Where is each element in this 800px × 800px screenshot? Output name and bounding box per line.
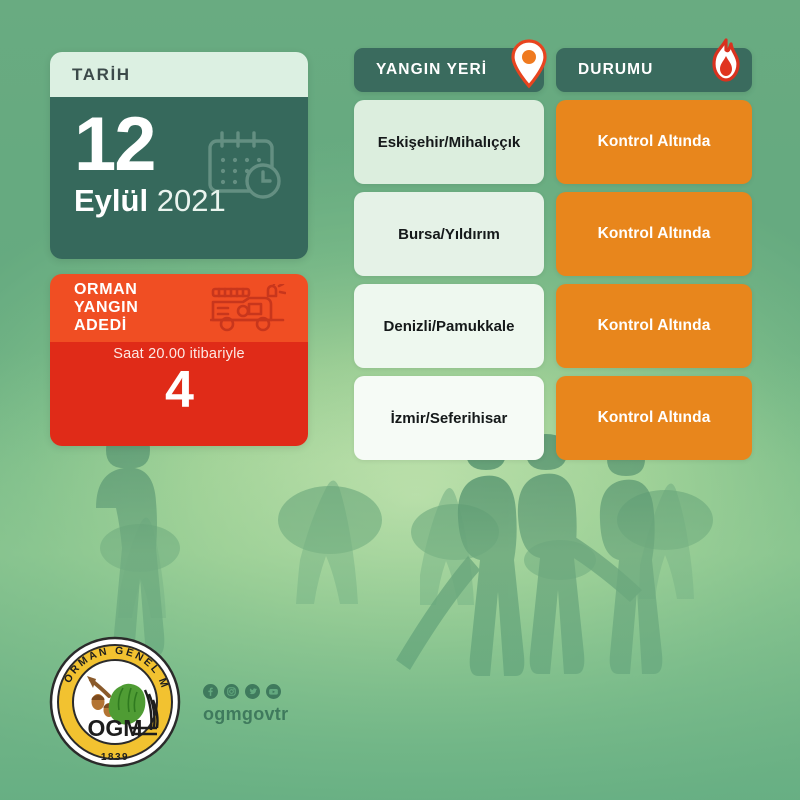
date-card-body: 12 Eylül 2021 — [50, 97, 308, 259]
ogm-logo: ORMAN GENEL MÜDÜRLÜĞÜ OGM 1839 — [45, 632, 185, 772]
table-row: İzmir/Seferihisar — [354, 376, 544, 460]
table-header-place: YANGIN YERİ — [354, 48, 544, 92]
status-value: Kontrol Altında — [598, 133, 711, 151]
status-value: Kontrol Altında — [598, 225, 711, 243]
table-row: Kontrol Altında — [556, 100, 752, 184]
table-header-status: DURUMU — [556, 48, 752, 92]
table-column-place: YANGIN YERİ Eskişehir/Mihalıççık Bursa/Y… — [354, 48, 544, 460]
fire-count-title-line1: ORMAN — [74, 281, 138, 299]
fire-count-subtitle: Saat 20.00 itibariyle — [113, 346, 245, 362]
date-card-label: TARİH — [72, 65, 131, 85]
status-value: Kontrol Altında — [598, 409, 711, 427]
logo-year: 1839 — [101, 752, 129, 763]
place-value: İzmir/Seferihisar — [391, 410, 508, 427]
fire-count-title-line3: ADEDİ — [74, 317, 138, 335]
fire-count-card: ORMAN YANGIN ADEDİ Saat 20.00 itibariyle… — [50, 274, 308, 446]
table-row: Denizli/Pamukkale — [354, 284, 544, 368]
place-value: Denizli/Pamukkale — [384, 318, 515, 335]
table-row: Bursa/Yıldırım — [354, 192, 544, 276]
instagram-icon[interactable] — [224, 684, 239, 699]
table-column-status: DURUMU Kontrol Altında Kontrol Altında K… — [556, 48, 752, 460]
date-card-header: TARİH — [50, 52, 308, 97]
footer: ORMAN GENEL MÜDÜRLÜĞÜ OGM 1839 — [45, 632, 288, 772]
social-handle: ogmgovtr — [203, 704, 288, 725]
table-row: Eskişehir/Mihalıççık — [354, 100, 544, 184]
table-row: Kontrol Altında — [556, 376, 752, 460]
table-row: Kontrol Altında — [556, 284, 752, 368]
fire-count-header: ORMAN YANGIN ADEDİ — [50, 274, 308, 342]
table-header-place-label: YANGIN YERİ — [354, 61, 487, 79]
fire-count-title-line2: YANGIN — [74, 299, 138, 317]
table-row: Kontrol Altında — [556, 192, 752, 276]
status-value: Kontrol Altında — [598, 317, 711, 335]
calendar-clock-icon — [204, 129, 286, 203]
flame-icon — [708, 38, 744, 89]
fire-count-number: 4 — [165, 364, 193, 416]
social-block: ogmgovtr — [203, 684, 288, 725]
fire-count-title: ORMAN YANGIN ADEDİ — [74, 281, 138, 335]
twitter-icon[interactable] — [245, 684, 260, 699]
date-month: Eylül — [74, 183, 148, 218]
logo-monogram: OGM — [88, 715, 143, 741]
facebook-icon[interactable] — [203, 684, 218, 699]
location-pin-icon — [510, 39, 548, 94]
youtube-icon[interactable] — [266, 684, 281, 699]
fire-status-table: YANGIN YERİ Eskişehir/Mihalıççık Bursa/Y… — [354, 48, 752, 460]
date-card: TARİH 12 Eylül 2021 — [50, 52, 308, 259]
place-value: Bursa/Yıldırım — [398, 226, 500, 243]
fire-truck-icon — [210, 284, 286, 334]
table-header-status-label: DURUMU — [556, 61, 653, 79]
fire-count-body: Saat 20.00 itibariyle 4 — [50, 342, 308, 446]
social-icons — [203, 684, 288, 699]
place-value: Eskişehir/Mihalıççık — [378, 134, 521, 151]
